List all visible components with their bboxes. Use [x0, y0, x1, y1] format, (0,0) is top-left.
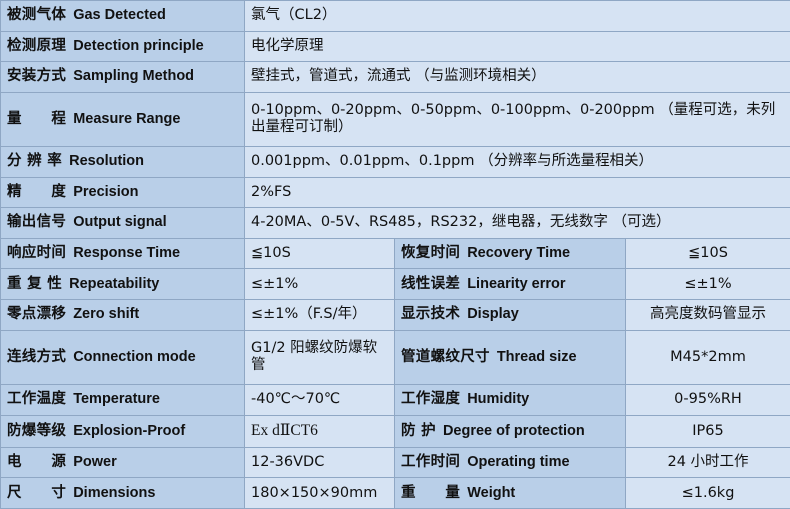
label-en: Weight [467, 485, 515, 501]
row-label-weight: 重 量Weight [395, 478, 626, 509]
label-en: Recovery Time [467, 245, 570, 261]
label-zh: 线性误差 [401, 276, 460, 292]
label-en: Power [73, 454, 117, 470]
row-label-linearity-error: 线性误差Linearity error [395, 269, 626, 300]
label-zh: 响应时间 [7, 245, 66, 261]
row-value-resolution: 0.001ppm、0.01ppm、0.1ppm （分辨率与所选量程相关） [245, 147, 790, 178]
label-zh: 精 度 [7, 184, 66, 200]
table-row: 重 复 性Repeatability ≤±1% 线性误差Linearity er… [1, 269, 790, 300]
label-en: Output signal [73, 214, 166, 230]
row-value-output-signal: 4-20MA、0-5V、RS485，RS232，继电器，无线数字 （可选） [245, 208, 790, 239]
table-row: 电 源Power 12-36VDC 工作时间Operating time 24 … [1, 447, 790, 478]
row-label-gas-detected: 被测气体Gas Detected [1, 1, 245, 32]
row-value-temperature: -40℃～70℃ [245, 384, 395, 415]
row-label-resolution: 分 辨 率Resolution [1, 147, 245, 178]
label-en: Sampling Method [73, 68, 194, 84]
row-value-linearity-error: ≤±1% [626, 269, 790, 300]
row-value-degree-of-protection: IP65 [626, 415, 790, 447]
table-row: 量 程Measure Range 0-10ppm、0-20ppm、0-50ppm… [1, 92, 790, 146]
label-zh: 连线方式 [7, 349, 66, 365]
table-row: 零点漂移Zero shift ≤±1%（F.S/年） 显示技术Display 高… [1, 300, 790, 331]
row-value-weight: ≤1.6kg [626, 478, 790, 509]
label-zh: 检测原理 [7, 38, 66, 54]
row-value-connection-mode: G1/2 阳螺纹防爆软管 [245, 330, 395, 384]
row-value-operating-time: 24 小时工作 [626, 447, 790, 478]
row-value-dimensions: 180×150×90mm [245, 478, 395, 509]
row-value-repeatability: ≤±1% [245, 269, 395, 300]
row-label-explosion-proof: 防爆等级Explosion-Proof [1, 415, 245, 447]
label-zh: 防爆等级 [7, 423, 66, 439]
label-zh: 量 程 [7, 111, 66, 127]
table-row: 连线方式Connection mode G1/2 阳螺纹防爆软管 管道螺纹尺寸T… [1, 330, 790, 384]
row-label-display: 显示技术Display [395, 300, 626, 331]
label-zh: 重 复 性 [7, 276, 62, 292]
label-zh: 工作湿度 [401, 391, 460, 407]
row-value-thread-size: M45*2mm [626, 330, 790, 384]
label-en: Zero shift [73, 306, 139, 322]
row-label-output-signal: 输出信号Output signal [1, 208, 245, 239]
label-en: Explosion-Proof [73, 423, 185, 439]
row-label-operating-time: 工作时间Operating time [395, 447, 626, 478]
row-label-measure-range: 量 程Measure Range [1, 92, 245, 146]
label-zh: 显示技术 [401, 306, 460, 322]
label-zh: 管道螺纹尺寸 [401, 349, 490, 365]
label-en: Thread size [497, 349, 577, 365]
specification-table-body: 被测气体Gas Detected 氯气（CL2） 检测原理Detection p… [1, 1, 790, 509]
label-zh: 恢复时间 [401, 245, 460, 261]
row-label-sampling-method: 安装方式Sampling Method [1, 62, 245, 93]
label-zh: 被测气体 [7, 7, 66, 23]
table-row: 被测气体Gas Detected 氯气（CL2） [1, 1, 790, 32]
label-en: Response Time [73, 245, 180, 261]
label-zh: 重 量 [401, 485, 460, 501]
label-zh: 尺 寸 [7, 485, 66, 501]
label-zh: 分 辨 率 [7, 153, 62, 169]
row-value-power: 12-36VDC [245, 447, 395, 478]
label-en: Operating time [467, 454, 569, 470]
label-zh: 安装方式 [7, 68, 66, 84]
table-row: 响应时间Response Time ≦10S 恢复时间Recovery Time… [1, 238, 790, 269]
table-row: 尺 寸Dimensions 180×150×90mm 重 量Weight ≤1.… [1, 478, 790, 509]
label-zh: 零点漂移 [7, 306, 66, 322]
row-value-response-time: ≦10S [245, 238, 395, 269]
label-en: Gas Detected [73, 7, 166, 23]
row-label-temperature: 工作温度Temperature [1, 384, 245, 415]
row-label-precision: 精 度Precision [1, 177, 245, 208]
label-zh: 电 源 [7, 454, 66, 470]
row-value-humidity: 0-95%RH [626, 384, 790, 415]
row-label-dimensions: 尺 寸Dimensions [1, 478, 245, 509]
label-zh: 工作时间 [401, 454, 460, 470]
table-row: 工作温度Temperature -40℃～70℃ 工作湿度Humidity 0-… [1, 384, 790, 415]
label-zh: 防 护 [401, 423, 436, 439]
row-label-thread-size: 管道螺纹尺寸Thread size [395, 330, 626, 384]
label-en: Humidity [467, 391, 529, 407]
label-en: Linearity error [467, 276, 565, 292]
table-row: 防爆等级Explosion-Proof Ex dⅡCT6 防 护Degree o… [1, 415, 790, 447]
label-en: Detection principle [73, 38, 204, 54]
row-value-explosion-proof: Ex dⅡCT6 [245, 415, 395, 447]
row-value-detection-principle: 电化学原理 [245, 31, 790, 62]
row-label-power: 电 源Power [1, 447, 245, 478]
label-en: Connection mode [73, 349, 195, 365]
label-en: Degree of protection [443, 423, 585, 439]
label-en: Display [467, 306, 519, 322]
label-en: Precision [73, 184, 138, 200]
row-value-precision: 2%FS [245, 177, 790, 208]
label-en: Temperature [73, 391, 160, 407]
row-label-humidity: 工作湿度Humidity [395, 384, 626, 415]
row-label-repeatability: 重 复 性Repeatability [1, 269, 245, 300]
label-zh: 工作温度 [7, 391, 66, 407]
table-row: 精 度Precision 2%FS [1, 177, 790, 208]
row-value-zero-shift: ≤±1%（F.S/年） [245, 300, 395, 331]
specification-table: 被测气体Gas Detected 氯气（CL2） 检测原理Detection p… [0, 0, 790, 509]
row-label-zero-shift: 零点漂移Zero shift [1, 300, 245, 331]
row-value-gas-detected: 氯气（CL2） [245, 1, 790, 32]
row-label-recovery-time: 恢复时间Recovery Time [395, 238, 626, 269]
row-label-detection-principle: 检测原理Detection principle [1, 31, 245, 62]
row-value-display: 高亮度数码管显示 [626, 300, 790, 331]
table-row: 检测原理Detection principle 电化学原理 [1, 31, 790, 62]
row-value-measure-range: 0-10ppm、0-20ppm、0-50ppm、0-100ppm、0-200pp… [245, 92, 790, 146]
label-en: Resolution [69, 153, 144, 169]
table-row: 输出信号Output signal 4-20MA、0-5V、RS485，RS23… [1, 208, 790, 239]
row-value-sampling-method: 壁挂式，管道式，流通式 （与监测环境相关） [245, 62, 790, 93]
label-en: Repeatability [69, 276, 159, 292]
label-en: Measure Range [73, 111, 180, 127]
table-row: 分 辨 率Resolution 0.001ppm、0.01ppm、0.1ppm … [1, 147, 790, 178]
row-label-response-time: 响应时间Response Time [1, 238, 245, 269]
label-zh: 输出信号 [7, 214, 66, 230]
row-label-connection-mode: 连线方式Connection mode [1, 330, 245, 384]
label-en: Dimensions [73, 485, 155, 501]
table-row: 安装方式Sampling Method 壁挂式，管道式，流通式 （与监测环境相关… [1, 62, 790, 93]
row-label-degree-of-protection: 防 护Degree of protection [395, 415, 626, 447]
row-value-recovery-time: ≦10S [626, 238, 790, 269]
